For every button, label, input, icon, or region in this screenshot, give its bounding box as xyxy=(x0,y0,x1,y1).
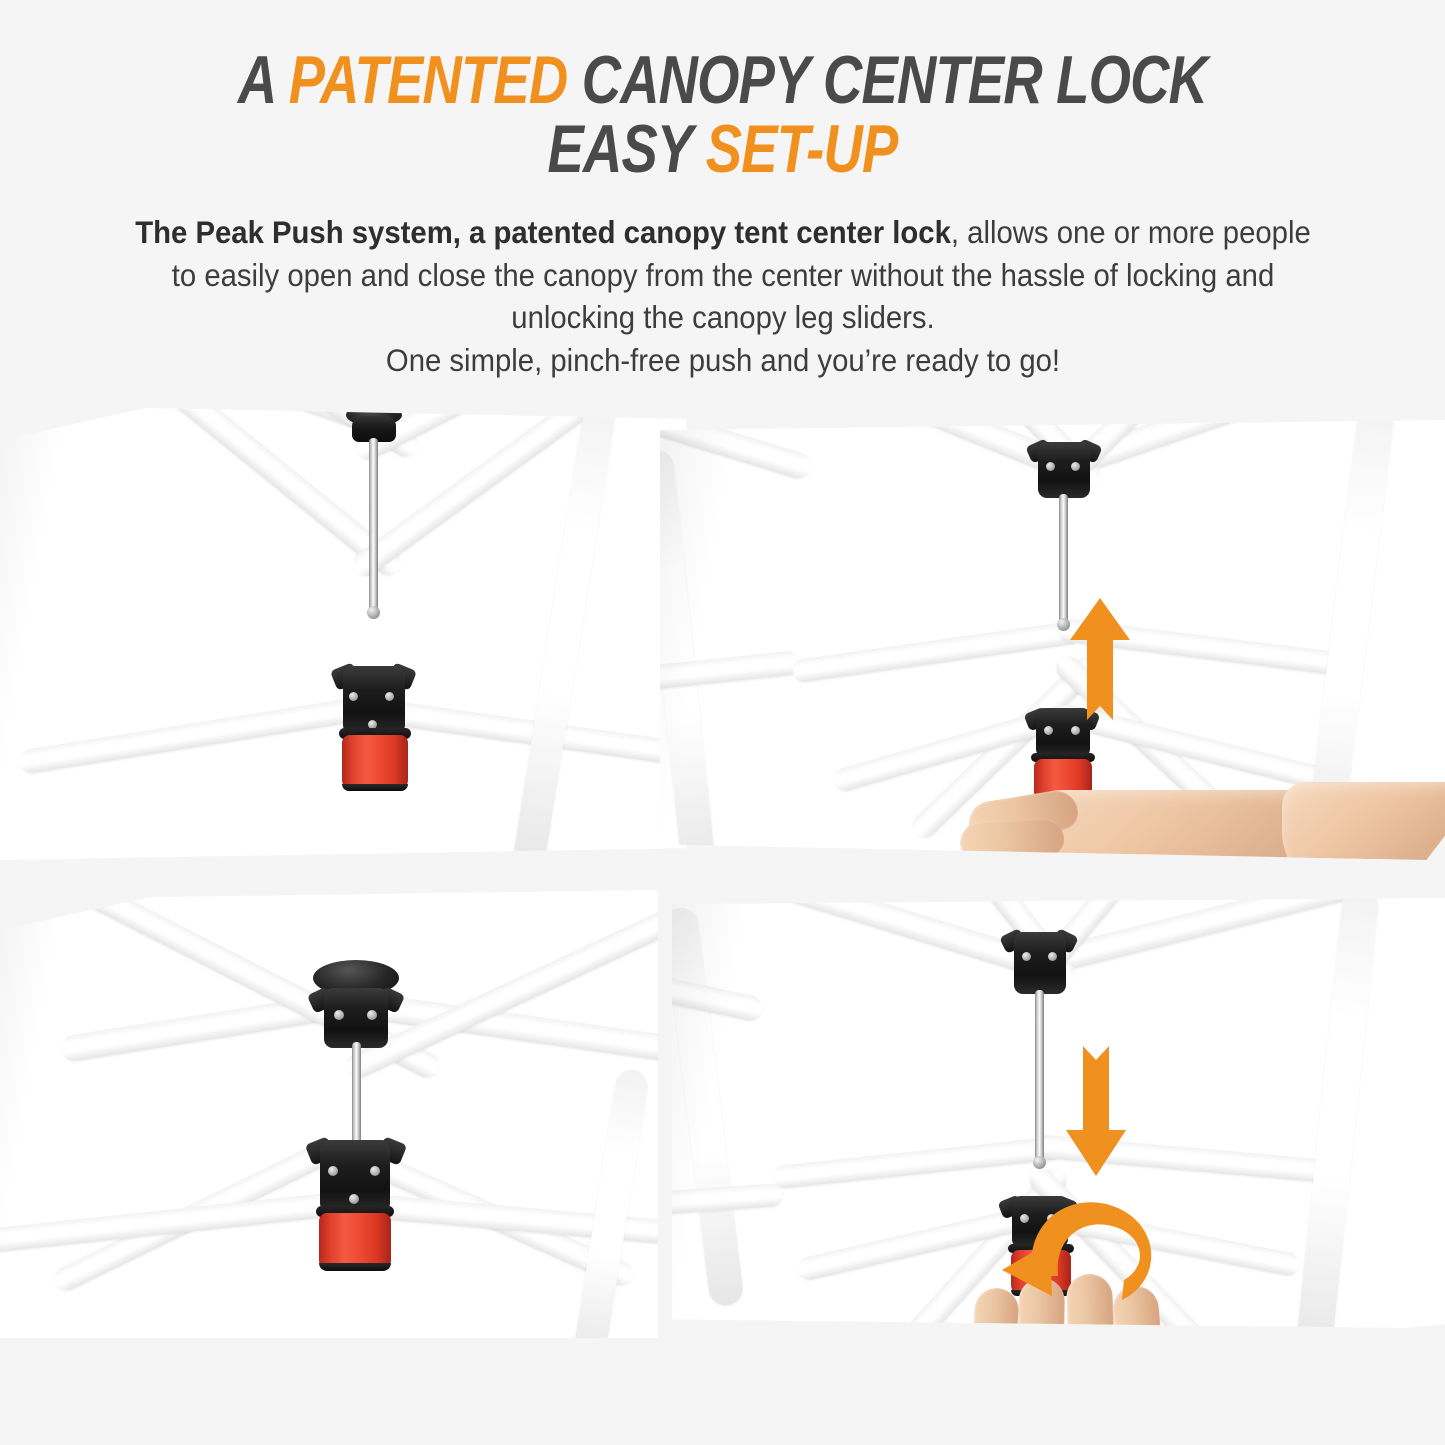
headline-text-easy: EASY xyxy=(548,111,706,187)
hub-rivet xyxy=(370,1166,380,1176)
chrome-center-rod xyxy=(369,438,378,613)
hub-rivet xyxy=(334,1010,344,1020)
hub-rivet xyxy=(349,1194,359,1204)
arrow-up-icon xyxy=(1068,598,1132,730)
upper-hub-body xyxy=(324,988,388,1048)
description-final-line: One simple, pinch-free push and you’re r… xyxy=(385,342,1059,378)
upper-hub-body xyxy=(1038,442,1090,498)
hub-rivet xyxy=(1046,462,1055,471)
finger xyxy=(959,817,1065,860)
chrome-rod-tip xyxy=(367,606,380,619)
red-push-button[interactable] xyxy=(319,1213,391,1271)
frame-leg-tube xyxy=(1295,898,1380,1328)
panel-frame-locked-rod-engaged xyxy=(0,890,658,1338)
description-bold-lead: The Peak Push system, a patented canopy … xyxy=(135,214,951,250)
headline-accent-patented: PATENTED xyxy=(289,42,568,118)
hub-rivet xyxy=(1048,952,1057,961)
feature-description: The Peak Push system, a patented canopy … xyxy=(132,211,1313,382)
panel-palm-pushing-up xyxy=(660,420,1445,860)
hub-rivet xyxy=(1071,462,1080,471)
scene-pull-down-twist xyxy=(672,898,1445,1328)
description-paragraph: The Peak Push system, a patented canopy … xyxy=(135,214,1311,336)
canopy-center-lock-feature-page: { "headline": { "line1_pre": "A ", "line… xyxy=(0,0,1445,1445)
headline-text-post: CANOPY CENTER LOCK xyxy=(567,42,1207,118)
page-headline: A PATENTED CANOPY CENTER LOCK EASY SET-U… xyxy=(145,0,1301,185)
arrow-rotate-icon xyxy=(972,1184,1182,1324)
scene-locked-frame xyxy=(0,890,658,1338)
panel-frame-closed-rod-retracted xyxy=(0,408,686,860)
hub-rivet xyxy=(367,1010,377,1020)
hub-rivet xyxy=(1044,726,1053,735)
arrow-down-icon xyxy=(1064,1026,1128,1176)
frame-tube xyxy=(772,1136,1063,1189)
panel-fingers-pulling-down-and-twisting xyxy=(672,898,1445,1328)
chrome-center-rod xyxy=(352,1042,361,1147)
headline-text-pre: A xyxy=(238,42,289,118)
hub-rivet xyxy=(328,1166,338,1176)
frame-leg-tube xyxy=(660,448,717,860)
chrome-center-rod xyxy=(1059,494,1068,624)
frame-tube xyxy=(791,620,1081,683)
red-push-button[interactable] xyxy=(342,735,408,791)
scene-closed-frame xyxy=(0,408,686,860)
scene-push-up xyxy=(660,420,1445,860)
frame-tube xyxy=(0,1192,339,1253)
frame-leg-tube xyxy=(672,906,745,1307)
hub-rivet xyxy=(385,692,394,701)
hub-rivet xyxy=(349,692,358,701)
frame-leg-tube xyxy=(571,1067,650,1338)
headline-line-2: EASY SET-UP xyxy=(145,115,1301,184)
chrome-center-rod xyxy=(1035,990,1044,1162)
upper-hub-body xyxy=(1014,932,1066,994)
frame-tube xyxy=(18,696,367,774)
hub-rivet xyxy=(1022,952,1031,961)
open-palm-hand xyxy=(952,782,1422,860)
forearm xyxy=(1282,782,1445,860)
chrome-rod-tip xyxy=(1033,1156,1046,1169)
headline-line-1: A PATENTED CANOPY CENTER LOCK xyxy=(238,42,1207,118)
frame-leg-tube xyxy=(511,408,618,860)
headline-accent-setup: SET-UP xyxy=(706,111,898,187)
product-photo-grid xyxy=(0,398,1445,1398)
